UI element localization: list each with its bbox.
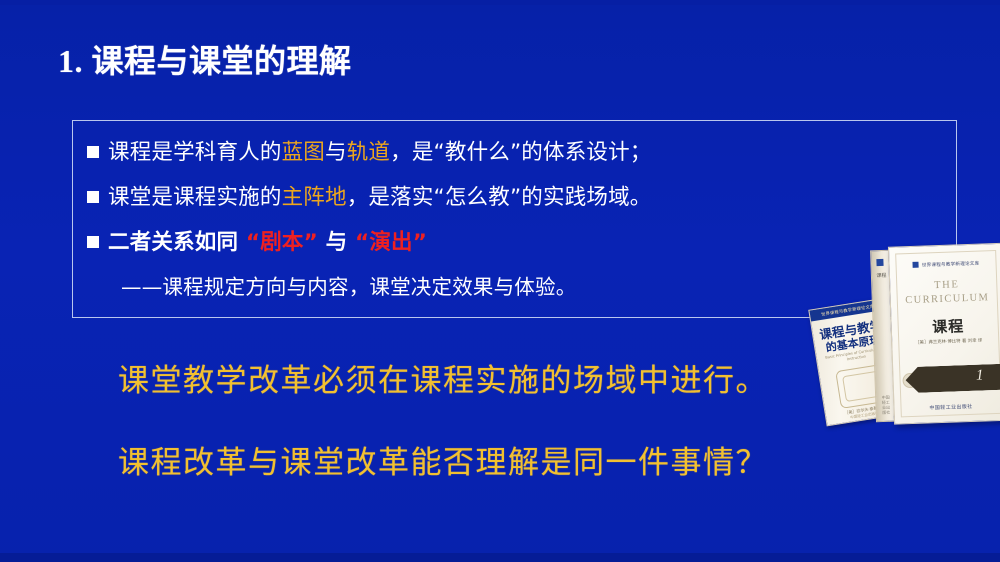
bullet-item-2: 课堂是课程实施的主阵地，是落实“怎么教”的实践场域。 <box>87 180 652 211</box>
presentation-slide: 1. 课程与课堂的理解 课程是学科育人的蓝图与轨道，是“教什么”的体系设计； 课… <box>0 0 1000 562</box>
bullet-item-3: 二者关系如同 “剧本” 与 “演出” <box>87 225 427 256</box>
bullet-3-seg-1: 二者关系如同 <box>108 230 246 255</box>
book-right-spine-publisher: 中国轻工业出版社 <box>880 395 892 415</box>
statement-line-2: 课程改革与课堂改革能否理解是同一件事情？ <box>118 437 768 482</box>
publisher-logo-icon <box>913 262 919 268</box>
bullet-1-seg-1: 课程是学科育人的 <box>108 140 282 165</box>
book-cover-right: 课程 中国轻工业出版社 世界课程与教学新理论文库 THE CURRICULUM … <box>870 243 1000 426</box>
publisher-logo-icon <box>876 259 883 266</box>
bullet-1-seg-4: 轨道 <box>347 140 390 165</box>
slide-top-strip <box>0 0 1000 5</box>
book-right-spine-title: 课程 <box>876 273 887 279</box>
square-bullet-icon <box>87 236 99 248</box>
square-bullet-icon <box>87 146 99 158</box>
book-covers-image: 世界课程与教学新理论文库 课程与教学 的基本原理 Basic Principle… <box>815 245 1000 437</box>
book-right-face: 世界课程与教学新理论文库 THE CURRICULUM 课程 ［美］弗兰克林·博… <box>888 243 1000 425</box>
bullet-1-seg-2: 蓝图 <box>282 140 325 165</box>
statement-line-1: 课堂教学改革必须在课程实施的场域中进行。 <box>118 355 768 400</box>
bullet-3-seg-2: “剧本” <box>246 230 318 255</box>
bullet-1-seg-5: ，是“教什么”的体系设计； <box>390 140 651 165</box>
book-right-volume-number: 1 <box>976 367 984 384</box>
bullet-3-seg-3: 与 <box>318 230 355 255</box>
book-right-chinese-title: 课程 <box>891 314 1000 339</box>
bullet-2-seg-2: 主阵地 <box>282 185 347 210</box>
sub-line-note: ——课程规定方向与内容，课堂决定效果与体验。 <box>121 270 576 300</box>
slide-bottom-strip <box>0 553 1000 562</box>
content-box: 课程是学科育人的蓝图与轨道，是“教什么”的体系设计； 课堂是课程实施的主阵地，是… <box>72 120 957 318</box>
bullet-2-seg-1: 课堂是课程实施的 <box>108 185 282 210</box>
bullet-2-seg-3: ，是落实“怎么教”的实践场域。 <box>347 185 652 210</box>
book-right-volume-tag: 1 <box>905 364 1000 393</box>
square-bullet-icon <box>87 191 99 203</box>
bullet-3-seg-4: “演出” <box>355 230 427 255</box>
bullet-1-seg-3: 与 <box>325 140 347 165</box>
page-title: 1. 课程与课堂的理解 <box>58 36 352 82</box>
bullet-item-1: 课程是学科育人的蓝图与轨道，是“教什么”的体系设计； <box>87 135 652 166</box>
